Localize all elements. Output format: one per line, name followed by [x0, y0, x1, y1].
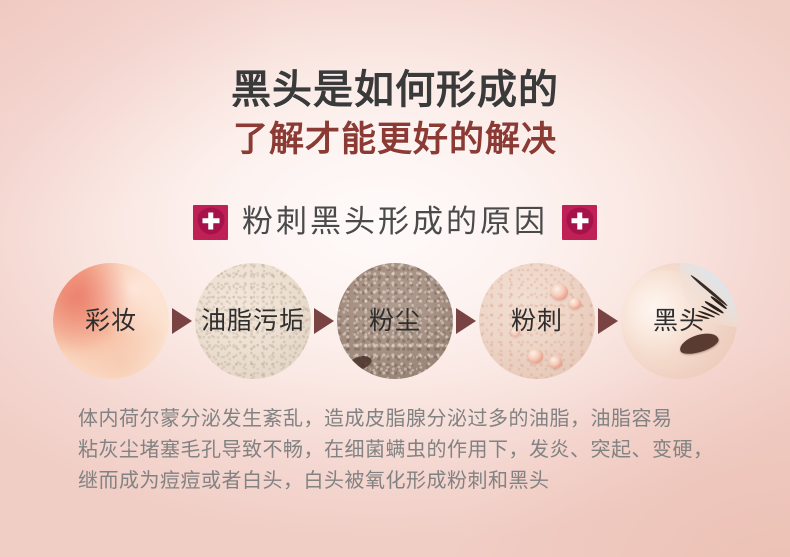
flow-step-label: 粉刺 [511, 307, 563, 335]
flow-step-blackhead: 黑头 [621, 263, 737, 379]
flow-arrow-icon [456, 308, 476, 334]
cross-badge-icon-right [562, 205, 597, 240]
comedone-bump [528, 349, 543, 363]
plus-vertical-bar [577, 212, 583, 229]
headline-line-2: 了解才能更好的解决 [0, 118, 790, 162]
headline-block: 黑头是如何形成的 了解才能更好的解决 [0, 66, 790, 162]
body-line-1: 体内荷尔蒙分泌发生紊乱，造成皮脂腺分泌过多的油脂，油脂容易 [78, 404, 728, 435]
flow-step-makeup: 彩妆 [53, 263, 169, 379]
flow-arrow-icon [172, 308, 192, 334]
flow-arrow-icon [314, 308, 334, 334]
poster-canvas: 黑头是如何形成的 了解才能更好的解决 粉刺黑头形成的原因 彩妆 油脂污垢 [0, 0, 790, 557]
flow-step-label: 彩妆 [85, 307, 137, 335]
comedone-bump [549, 356, 562, 368]
cross-badge-icon-left [193, 205, 228, 240]
subtitle-row: 粉刺黑头形成的原因 [0, 204, 790, 240]
body-paragraph: 体内荷尔蒙分泌发生紊乱，造成皮脂腺分泌过多的油脂，油脂容易 粘灰尘堵塞毛孔导致不… [78, 404, 728, 497]
flow-diagram: 彩妆 油脂污垢 粉尘 粉刺 [0, 262, 790, 380]
flow-step-dust: 粉尘 [337, 263, 453, 379]
flow-step-label: 黑头 [653, 307, 705, 335]
subtitle-text: 粉刺黑头形成的原因 [242, 204, 548, 240]
flow-step-comedones: 粉刺 [479, 263, 595, 379]
body-line-2: 粘灰尘堵塞毛孔导致不畅，在细菌螨虫的作用下，发炎、突起、变硬， [78, 435, 728, 466]
flow-arrow-icon [598, 308, 618, 334]
body-line-3: 继而成为痘痘或者白头，白头被氧化形成粉刺和黑头 [78, 466, 728, 497]
comedone-bump [551, 284, 568, 300]
flow-step-oil-dirt: 油脂污垢 [195, 263, 311, 379]
headline-line-1: 黑头是如何形成的 [0, 66, 790, 114]
plus-vertical-bar [208, 212, 214, 229]
flow-step-label: 油脂污垢 [201, 307, 305, 335]
flow-step-label: 粉尘 [369, 307, 421, 335]
